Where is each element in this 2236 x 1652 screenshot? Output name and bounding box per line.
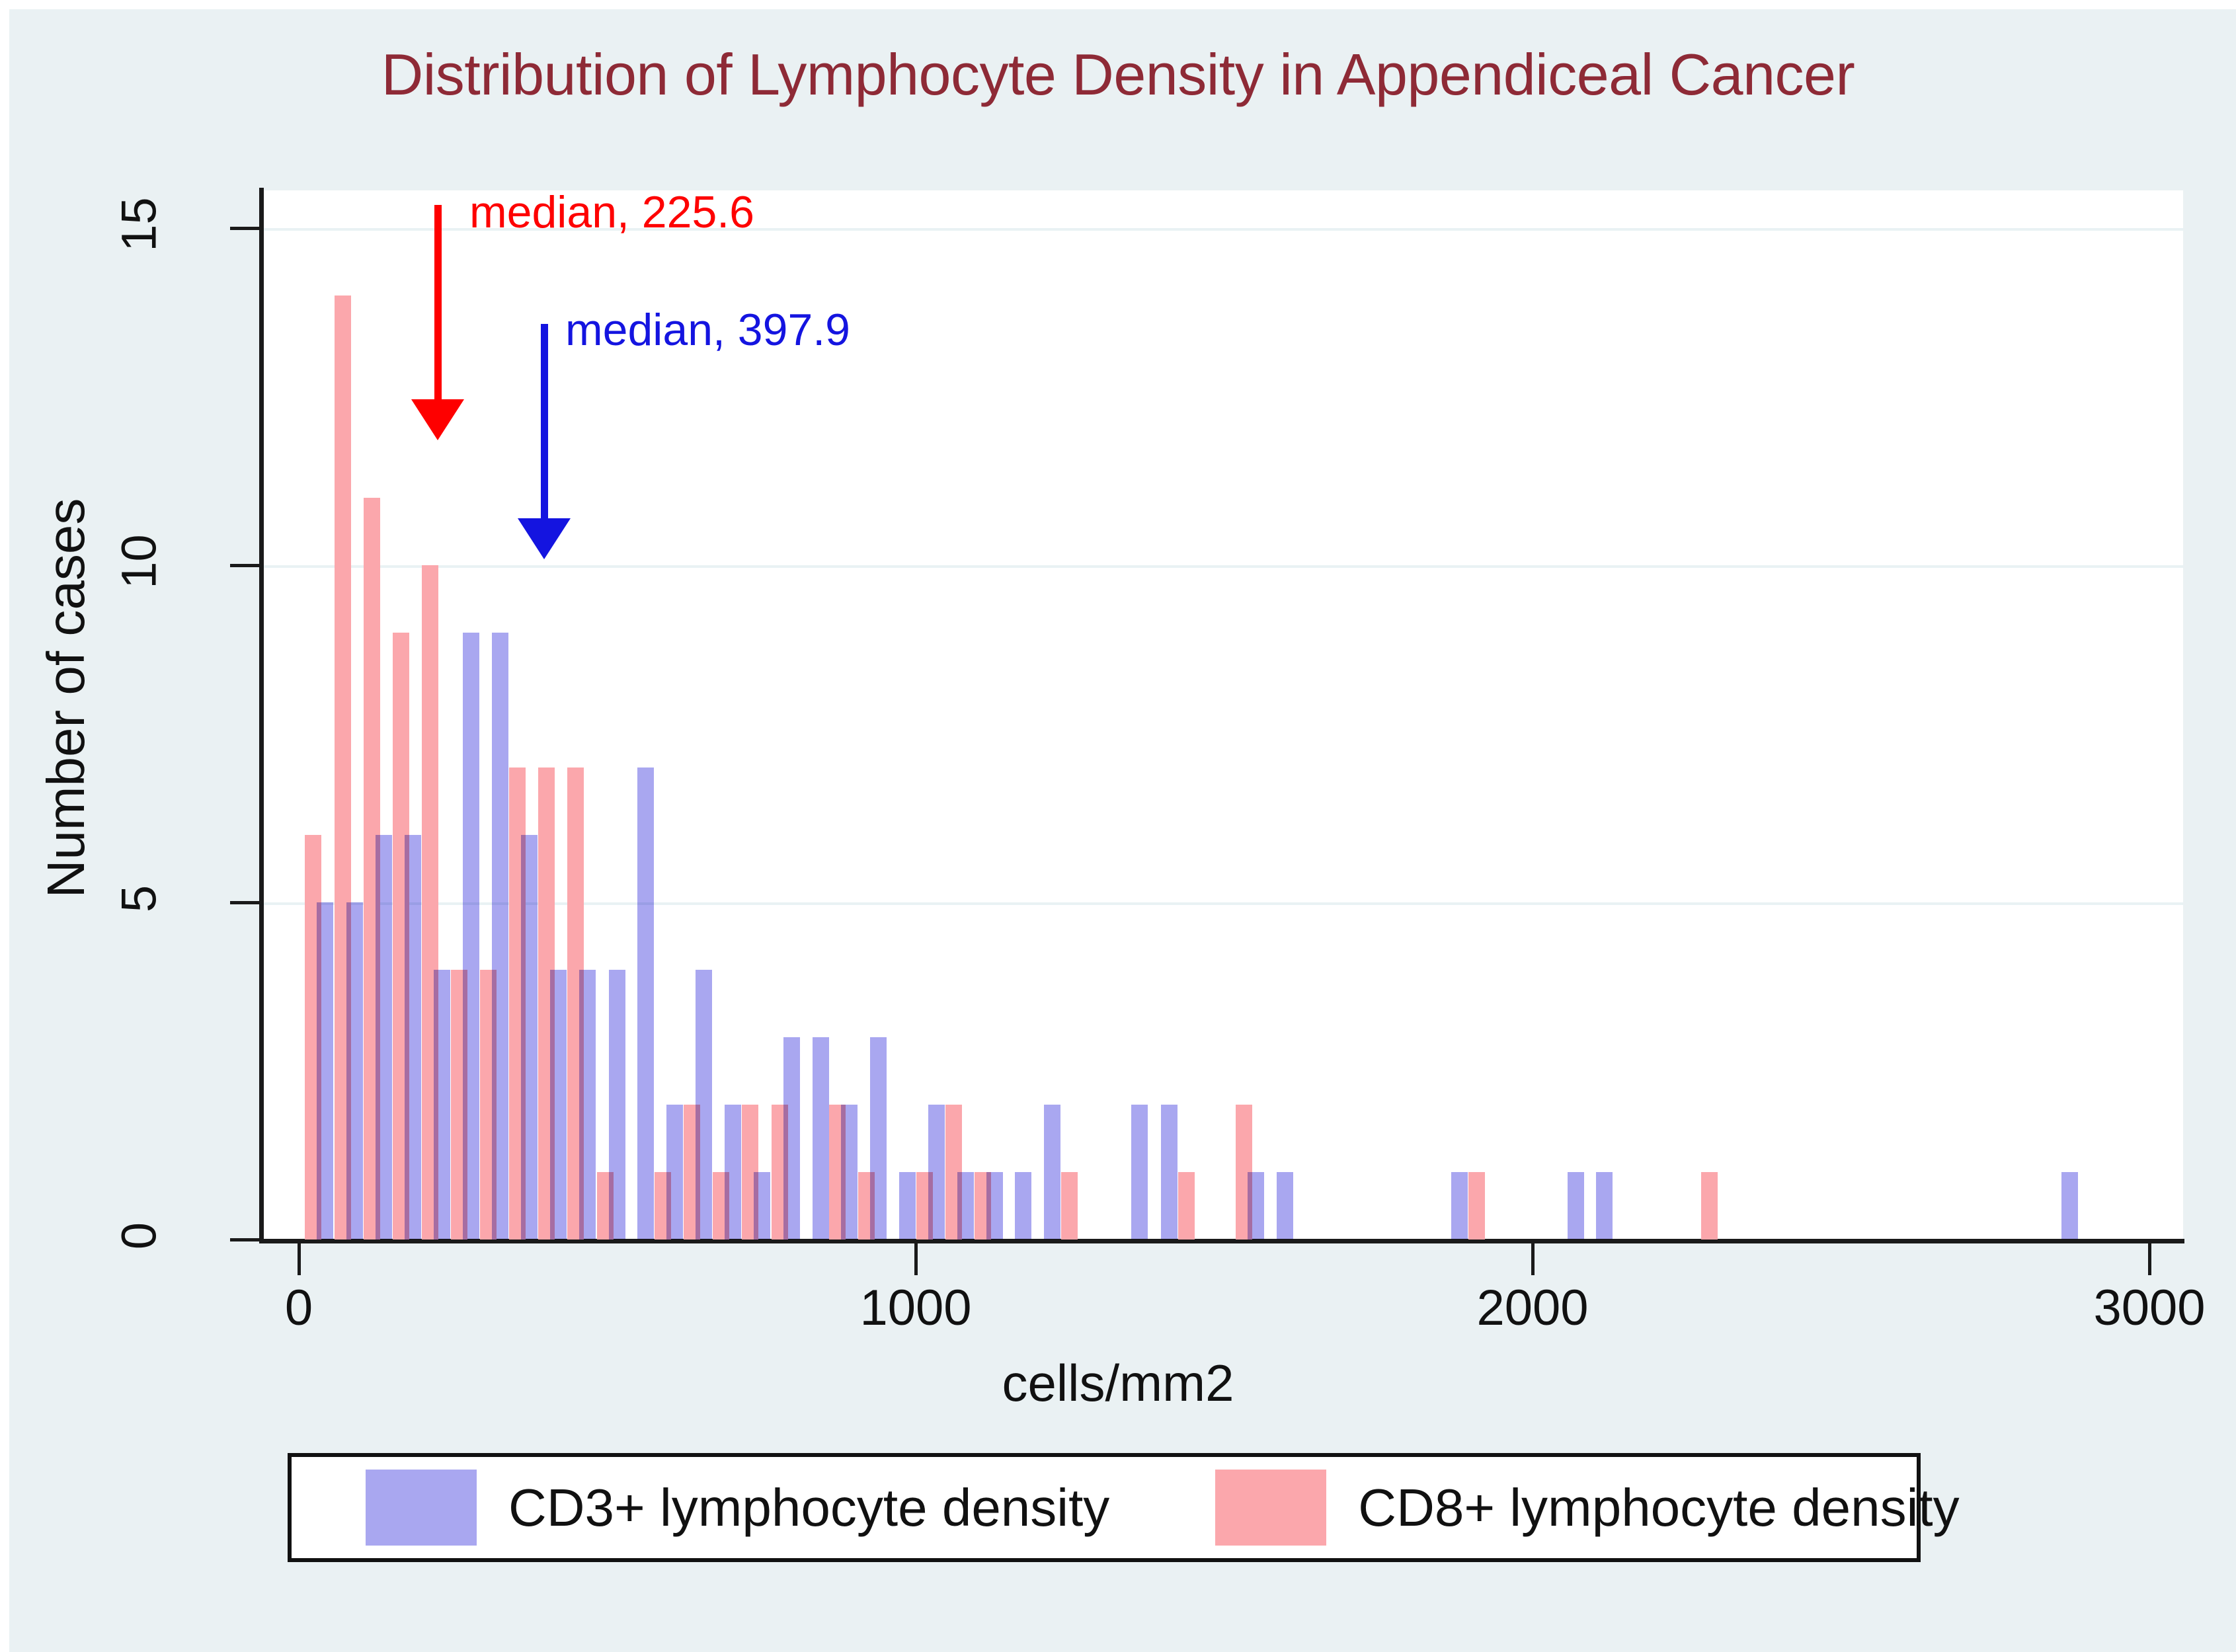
y-tick-10 [230,564,259,567]
bar-cd3 [550,970,567,1239]
bar-cd3 [405,835,421,1239]
y-tick-label-5: 5 [111,833,167,965]
legend-label-cd3: CD3+ lymphocyte density [508,1477,1109,1538]
bar-cd3 [957,1172,974,1239]
legend-entry-cd3: CD3+ lymphocyte density [366,1470,1109,1546]
plot-area [263,190,2183,1241]
legend-entry-cd8: CD8+ lymphocyte density [1215,1470,1959,1546]
bar-cd3 [1277,1172,1293,1239]
bar-cd3 [986,1172,1003,1239]
bar-cd8 [1178,1172,1195,1239]
x-tick-label-3000: 3000 [2044,1279,2236,1337]
y-axis-title: Number of cases [36,169,97,1227]
bar-cd3 [841,1105,858,1239]
y-tick-label-0: 0 [111,1170,167,1302]
page-margin-top [0,0,2236,9]
figure-canvas: Distribution of Lymphocyte Density in Ap… [0,0,2236,1652]
bar-cd3 [2061,1172,2078,1239]
bar-cd3 [928,1105,945,1239]
bar-cd3 [666,1105,683,1239]
x-tick-3000 [2148,1243,2151,1275]
x-tick-label-0: 0 [193,1279,405,1337]
bar-cd3 [899,1172,916,1239]
x-axis-line [259,1239,2184,1243]
y-tick-label-10: 10 [111,496,167,628]
bar-cd3 [1596,1172,1613,1239]
arrow-head-median-cd8 [411,399,464,440]
bar-cd3 [754,1172,770,1239]
y-tick-15 [230,227,259,230]
bar-cd3 [1044,1105,1060,1239]
bar-cd3 [609,970,625,1239]
bar-cd3 [1015,1172,1031,1239]
bar-cd3 [521,835,538,1239]
bar-cd3 [783,1037,800,1239]
chart-legend: CD3+ lymphocyte density CD8+ lymphocyte … [288,1453,1921,1562]
annotation-label-median-cd3: median, 397.9 [565,304,850,356]
legend-swatch-cd3 [366,1470,477,1546]
bar-cd3 [317,902,333,1239]
x-tick-2000 [1531,1243,1535,1275]
y-tick-label-15: 15 [111,159,167,291]
arrow-shaft-median-cd3 [541,324,548,522]
bar-cd8 [1468,1172,1485,1239]
annotation-label-median-cd8: median, 225.6 [469,186,754,238]
bar-cd3 [870,1037,887,1239]
bar-cd3 [1131,1105,1148,1239]
x-tick-label-2000: 2000 [1427,1279,1638,1337]
arrow-head-median-cd3 [518,518,571,559]
bar-cd3 [696,970,712,1239]
bar-cd3 [813,1037,829,1239]
x-tick-0 [298,1243,301,1275]
bar-cd8 [1701,1172,1718,1239]
legend-swatch-cd8 [1215,1470,1326,1546]
x-tick-label-1000: 1000 [810,1279,1021,1337]
y-axis-line [259,188,264,1243]
x-axis-title: cells/mm2 [0,1353,2236,1413]
bar-series-container [263,190,2183,1239]
arrow-shaft-median-cd8 [434,205,442,403]
y-tick-5 [230,901,259,904]
bar-cd3 [637,767,654,1239]
bar-cd3 [1248,1172,1264,1239]
bar-cd8 [1061,1172,1078,1239]
legend-label-cd8: CD8+ lymphocyte density [1358,1477,1959,1538]
x-tick-1000 [914,1243,918,1275]
bar-cd3 [492,633,508,1239]
bar-cd3 [1451,1172,1468,1239]
bar-cd3 [346,902,363,1239]
bar-cd3 [579,970,596,1239]
bar-cd3 [1161,1105,1178,1239]
chart-title: Distribution of Lymphocyte Density in Ap… [0,41,2236,108]
bar-cd3 [1568,1172,1584,1239]
y-tick-0 [230,1238,259,1241]
bar-cd3 [463,633,479,1239]
bar-cd3 [376,835,392,1239]
bar-cd3 [434,970,450,1239]
bar-cd3 [725,1105,741,1239]
